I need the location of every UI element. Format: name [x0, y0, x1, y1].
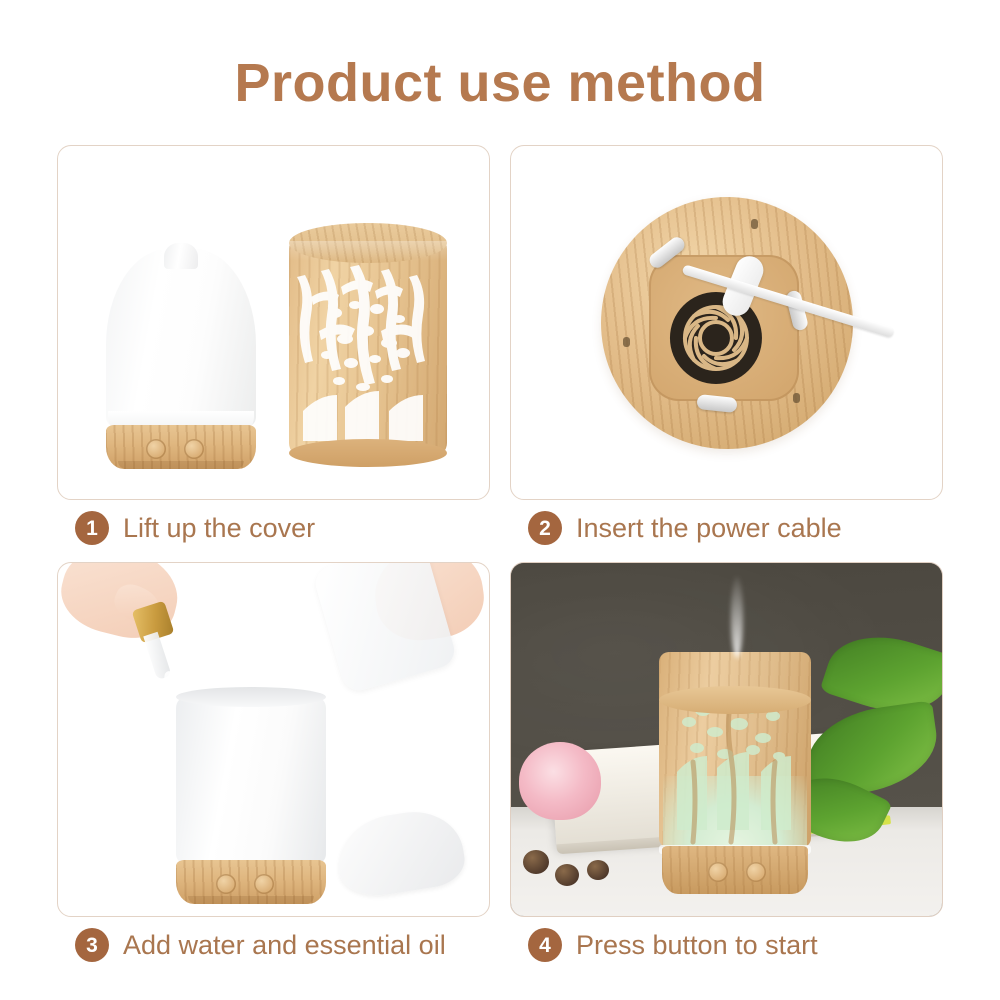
power-button-icon	[216, 874, 236, 894]
water-tank-body	[106, 249, 256, 427]
panel-press-button	[510, 562, 943, 917]
tank-nozzle	[164, 243, 198, 269]
wood-base	[176, 860, 326, 904]
step-label: Insert the power cable	[576, 513, 842, 544]
panel-add-water	[57, 562, 490, 917]
step-label: Lift up the cover	[123, 513, 315, 544]
step-cell-2: 2 Insert the power cable	[510, 145, 943, 556]
wood-cover-illustration	[289, 235, 447, 457]
step-label: Press button to start	[576, 930, 818, 961]
wood-base	[106, 425, 256, 469]
cover-lip-highlight	[289, 241, 447, 261]
detached-lid	[332, 805, 469, 902]
mist-plume	[731, 576, 743, 658]
light-button-icon[interactable]	[746, 862, 766, 882]
step-number-badge: 4	[528, 928, 562, 962]
step-caption-2: 2 Insert the power cable	[510, 500, 943, 556]
step-cell-3: 3 Add water and essential oil	[57, 562, 490, 973]
tree-lattice-icon	[289, 235, 447, 457]
pink-rose	[519, 742, 601, 820]
power-button-icon	[146, 439, 166, 459]
assembled-diffuser	[659, 646, 811, 894]
water-pour-stream	[297, 619, 317, 682]
step-caption-1: 1 Lift up the cover	[57, 500, 490, 556]
inner-unit-illustration	[106, 221, 256, 469]
steps-grid: 1 Lift up the cover	[57, 145, 943, 973]
step-label: Add water and essential oil	[123, 930, 446, 961]
step-caption-4: 4 Press button to start	[510, 917, 943, 973]
power-button-icon[interactable]	[708, 862, 728, 882]
decor-stone	[555, 864, 579, 886]
step-cell-1: 1 Lift up the cover	[57, 145, 490, 556]
water-tank-open	[176, 696, 326, 864]
open-tank-illustration	[176, 696, 326, 904]
screw-hole	[793, 393, 800, 403]
lifestyle-photo	[511, 563, 942, 916]
cover-bottom-ring	[289, 439, 447, 467]
light-button-icon	[254, 874, 274, 894]
screw-hole	[751, 219, 758, 229]
base-underside-illustration	[601, 197, 853, 449]
page-title: Product use method	[0, 52, 1000, 114]
step-caption-3: 3 Add water and essential oil	[57, 917, 490, 973]
screw-hole	[623, 337, 630, 347]
wood-cover	[659, 652, 811, 848]
panel-lift-cover	[57, 145, 490, 500]
step-number-badge: 3	[75, 928, 109, 962]
decor-stone	[587, 860, 609, 880]
step-number-badge: 1	[75, 511, 109, 545]
decor-stone	[523, 850, 549, 874]
step-number-badge: 2	[528, 511, 562, 545]
step-cell-4: 4 Press button to start	[510, 562, 943, 973]
panel-insert-cable	[510, 145, 943, 500]
tank-rim	[176, 687, 326, 707]
cover-top-rim	[659, 686, 811, 714]
wood-base	[662, 846, 808, 894]
light-button-icon	[184, 439, 204, 459]
